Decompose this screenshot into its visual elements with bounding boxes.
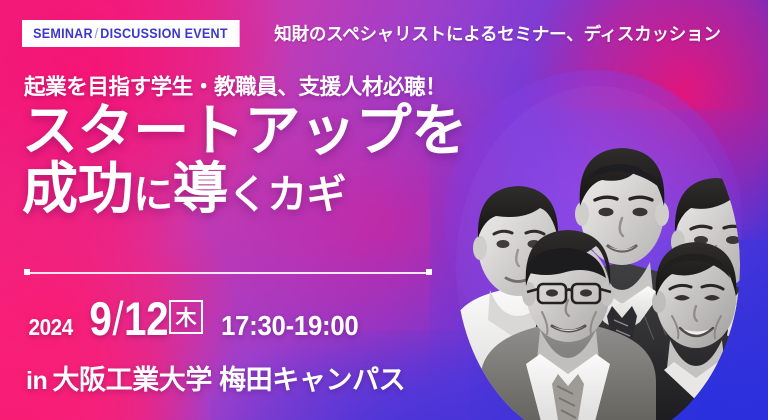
- divider-line: [30, 272, 426, 274]
- event-day: 12: [124, 292, 168, 345]
- badge-part-seminar: SEMINAR: [33, 26, 93, 41]
- title-line-2-part-a: 成功: [22, 156, 133, 222]
- event-month: 9: [90, 292, 112, 345]
- event-month-day: 9/12: [90, 291, 169, 346]
- header-subtitle: 知財のスペシャリストによるセミナー、ディスカッション: [274, 21, 720, 46]
- divider-cap-right: [426, 269, 432, 275]
- lead-copy: 起業を目指す学生・教職員、支援人材必聴！: [24, 70, 446, 101]
- venue-prefix: in: [26, 367, 52, 395]
- badge-part-discussion-event: DISCUSSION EVENT: [100, 26, 227, 41]
- event-year: 2024: [28, 314, 72, 341]
- badge-separator: /: [93, 26, 100, 41]
- title-line-2: 成功に導くカギ: [22, 162, 467, 217]
- speakers-photo-group: [432, 56, 754, 420]
- event-time: 17:30-19:00: [221, 310, 359, 342]
- title-line-2-part-b: に: [133, 171, 172, 218]
- venue-name: 大阪工業大学 梅田キャンパス: [52, 365, 405, 395]
- event-type-badge: SEMINAR / DISCUSSION EVENT: [22, 20, 240, 47]
- title-line-2-part-c: 導: [172, 156, 228, 222]
- event-banner: SEMINAR / DISCUSSION EVENT 知財のスペシャリストによる…: [0, 0, 768, 420]
- banner-header: SEMINAR / DISCUSSION EVENT 知財のスペシャリストによる…: [0, 18, 768, 48]
- date-slash: /: [112, 292, 125, 345]
- divider: [24, 269, 432, 276]
- event-datetime: 2024 9/12 木 17:30-19:00: [26, 291, 364, 339]
- event-venue: in大阪工業大学 梅田キャンパス: [26, 358, 405, 397]
- title-line-1: スタートアップを: [22, 104, 467, 159]
- title-line-2-part-d: くカギ: [228, 171, 346, 218]
- page-title: スタートアップを 成功に導くカギ: [22, 104, 467, 217]
- event-day-of-week: 木: [169, 300, 203, 334]
